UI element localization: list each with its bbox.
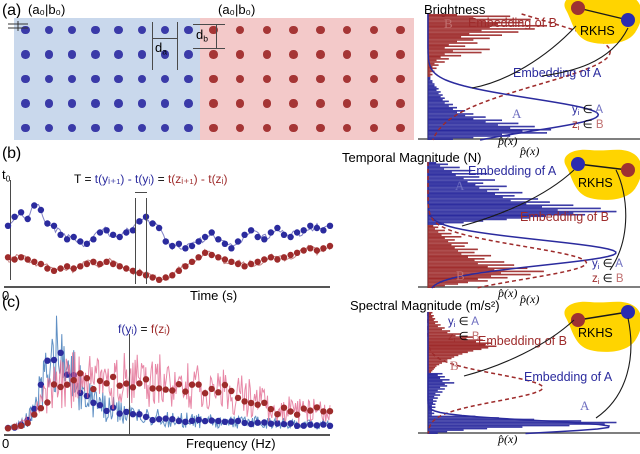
- rkhs-arrow-a-panel-c: [594, 316, 638, 424]
- lattice-dot: [263, 124, 271, 132]
- lattice-dot: [289, 26, 297, 34]
- db-arrow: [216, 24, 217, 49]
- frequency-marker-line: [129, 334, 130, 436]
- lattice-panel-b: [200, 18, 414, 140]
- rkhs-arrow-b-panel-b: [604, 168, 638, 274]
- lattice-dot: [184, 75, 192, 83]
- lattice-dot: [263, 75, 271, 83]
- period-left-line: [135, 198, 136, 284]
- period-right-line: [146, 198, 147, 284]
- hist-b-label-panel-b: B: [456, 268, 465, 284]
- lattice-dot: [68, 50, 76, 58]
- temporal-timeseries-plot: [8, 186, 330, 286]
- lattice-dot: [343, 99, 351, 107]
- lattice-dot: [45, 99, 53, 107]
- time-axis-label: Time (s): [190, 288, 237, 303]
- rkhs-arrow-b-panel-c: [462, 308, 582, 380]
- lattice-dot: [263, 50, 271, 58]
- period-span-arrow: [135, 192, 147, 193]
- period-equation: T = t(yᵢ₊₁) - t(yᵢ) = t(zᵢ₊₁) - t(zᵢ): [74, 172, 227, 186]
- lattice-dot: [396, 50, 404, 58]
- panel-b-letter: (b): [2, 145, 21, 163]
- frequency-axis-zero: 0: [2, 436, 9, 451]
- scale-marker-icon: [6, 20, 32, 32]
- lattice-dot: [21, 124, 29, 132]
- lattice-dot: [236, 50, 244, 58]
- frequency-axis-label: Frequency (Hz): [186, 436, 276, 451]
- hist-a-label-panel-c: A: [580, 398, 589, 414]
- lattice-dot: [45, 50, 53, 58]
- lattice-dot: [316, 26, 324, 34]
- time-axis: [4, 286, 330, 288]
- panel-c-letter: (c): [2, 294, 20, 312]
- lattice-dot: [91, 124, 99, 132]
- lattice-dot: [209, 50, 217, 58]
- lattice-dot: [236, 124, 244, 132]
- da-label: da: [155, 39, 167, 57]
- lattice-dot: [45, 124, 53, 132]
- lattice-dot: [184, 50, 192, 58]
- temporal-xaxis-label: p̂(x): [498, 284, 517, 302]
- lattice-dot: [236, 75, 244, 83]
- rkhs-arrow-a-panel-b: [460, 164, 584, 230]
- lattice-dot: [343, 124, 351, 132]
- lattice-dot: [114, 99, 122, 107]
- lattice-dot: [263, 99, 271, 107]
- lattice-dot: [138, 99, 146, 107]
- lattice-dot: [184, 26, 192, 34]
- lattice-dot: [161, 124, 169, 132]
- lattice-b-title: (a₀|b₀): [218, 2, 255, 17]
- lattice-dot: [209, 124, 217, 132]
- lattice-dot: [161, 99, 169, 107]
- lattice-dot: [263, 26, 271, 34]
- lattice-dot: [114, 124, 122, 132]
- da-right-tick: [177, 22, 178, 70]
- lattice-dot: [68, 124, 76, 132]
- spectral-xaxis-label: p̂(x): [498, 430, 517, 448]
- lattice-dot: [21, 75, 29, 83]
- lattice-dot: [236, 99, 244, 107]
- lattice-dot: [114, 75, 122, 83]
- frequency-axis: [4, 434, 330, 436]
- spectral-top-axis-label: p̂(x): [520, 290, 539, 308]
- lattice-dot: [209, 75, 217, 83]
- lattice-dot: [161, 26, 169, 34]
- hist-b-label-panel-a: B: [444, 16, 453, 32]
- lattice-dot: [343, 26, 351, 34]
- hist-b-label-panel-c: B: [450, 358, 459, 374]
- lattice-dot: [114, 50, 122, 58]
- legend-panel-a: yi ∈ A zi ∈ B: [572, 104, 604, 134]
- hist-a-label-panel-a: A: [512, 106, 521, 122]
- lattice-dot: [396, 75, 404, 83]
- lattice-dot: [370, 124, 378, 132]
- lattice-dot: [184, 99, 192, 107]
- lattice-dot: [396, 26, 404, 34]
- lattice-panel-a: [14, 18, 200, 140]
- lattice-dot: [138, 26, 146, 34]
- lattice-dot: [91, 75, 99, 83]
- figure-root: (a) (a₀|b₀) (a₀|b₀) da db Brightness p̂(…: [0, 0, 640, 454]
- lattice-dot: [45, 26, 53, 34]
- lattice-dot: [370, 50, 378, 58]
- lattice-dot: [161, 75, 169, 83]
- lattice-a-title: (a₀|b₀): [28, 2, 65, 17]
- db-label: db: [196, 26, 208, 44]
- lattice-dot: [396, 99, 404, 107]
- lattice-dot: [343, 50, 351, 58]
- lattice-dot: [21, 50, 29, 58]
- lattice-dot: [45, 75, 53, 83]
- db-top-line: [193, 24, 225, 25]
- lattice-dot: [289, 124, 297, 132]
- lattice-dot: [316, 124, 324, 132]
- da-left-tick: [152, 22, 153, 70]
- lattice-dot: [138, 124, 146, 132]
- lattice-dot: [91, 99, 99, 107]
- lattice-dot: [370, 99, 378, 107]
- lattice-dot: [236, 26, 244, 34]
- db-bottom-line: [193, 48, 225, 49]
- lattice-dot: [138, 50, 146, 58]
- rkhs-arrow-b-panel-a: [540, 18, 632, 80]
- lattice-dot: [68, 99, 76, 107]
- lattice-dot: [289, 99, 297, 107]
- lattice-dot: [91, 50, 99, 58]
- lattice-dot: [370, 75, 378, 83]
- lattice-dot: [370, 26, 378, 34]
- lattice-dot: [316, 50, 324, 58]
- lattice-dot: [316, 99, 324, 107]
- lattice-dot: [21, 99, 29, 107]
- lattice-dot: [68, 75, 76, 83]
- lattice-dot: [289, 50, 297, 58]
- lattice-dot: [316, 75, 324, 83]
- spectrum-plot: [8, 332, 330, 434]
- lattice-dot: [343, 75, 351, 83]
- lattice-dot: [91, 26, 99, 34]
- brightness-xaxis-label: p̂(x): [498, 132, 517, 150]
- lattice-dot: [68, 26, 76, 34]
- lattice-dot: [289, 75, 297, 83]
- lattice-dot: [396, 124, 404, 132]
- lattice-dot: [114, 26, 122, 34]
- temporal-top-axis-label: p̂(x): [520, 142, 539, 160]
- lattice-dot: [138, 75, 146, 83]
- lattice-dot: [209, 99, 217, 107]
- lattice-dot: [184, 124, 192, 132]
